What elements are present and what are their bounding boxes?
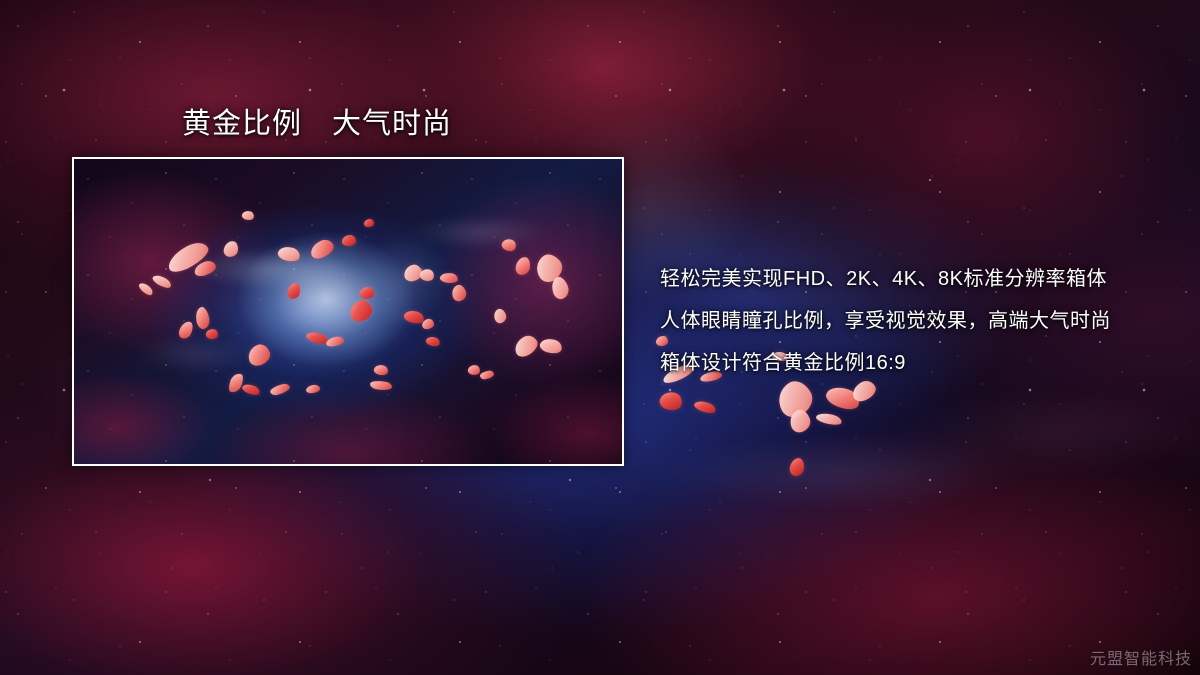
petal — [815, 411, 843, 427]
petal — [823, 382, 862, 413]
petal — [789, 457, 805, 476]
slide-canvas: 黄金比例 大气时尚 轻松完美实现FHD、2K、4K、8K标准分辨率箱体人体眼睛瞳… — [0, 0, 1200, 675]
petal — [693, 399, 717, 416]
body-text-line: 人体眼睛瞳孔比例，享受视觉效果，高端大气时尚 — [660, 300, 1180, 342]
panel-starfield — [74, 159, 622, 464]
body-text-block: 轻松完美实现FHD、2K、4K、8K标准分辨率箱体人体眼睛瞳孔比例，享受视觉效果… — [660, 258, 1180, 384]
petal — [658, 389, 684, 412]
petal — [787, 407, 813, 434]
page-title: 黄金比例 大气时尚 — [182, 100, 452, 142]
body-text-line: 箱体设计符合黄金比例16:9 — [660, 342, 1180, 384]
preview-panel-frame — [72, 157, 624, 466]
body-text-line: 轻松完美实现FHD、2K、4K、8K标准分辨率箱体 — [660, 258, 1180, 300]
watermark: 元盟智能科技 — [1090, 645, 1192, 669]
